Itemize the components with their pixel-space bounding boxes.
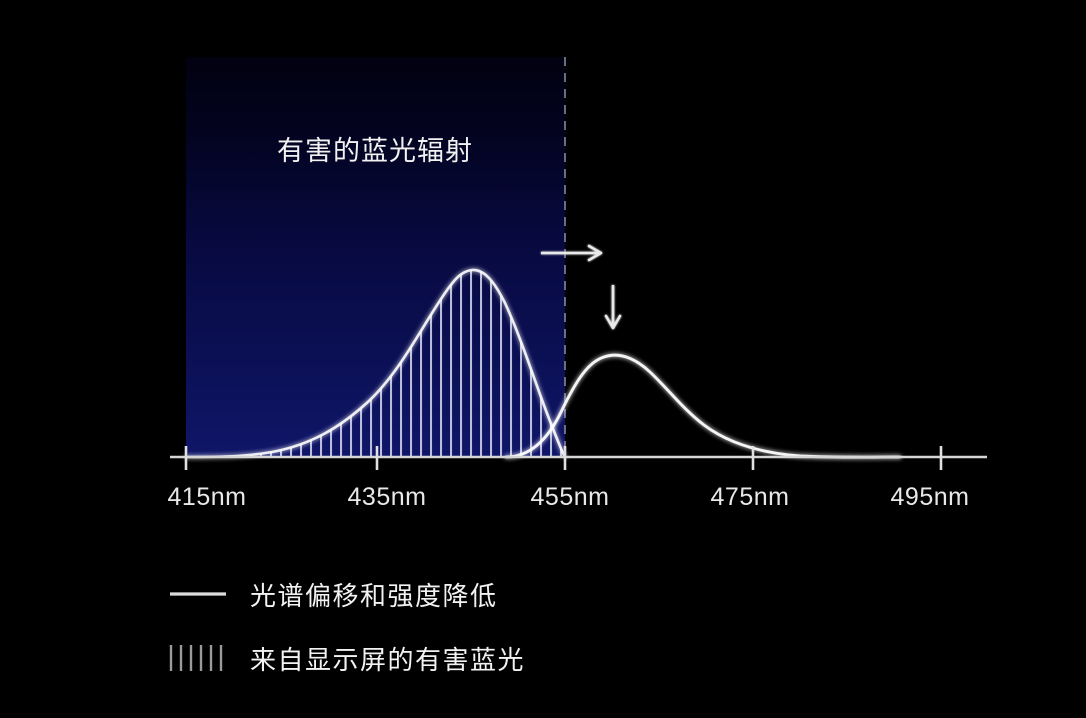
chart-legend: 光谱偏移和强度降低 来自显示屏的有害蓝光 (170, 581, 525, 675)
legend-label-spectral-shift: 光谱偏移和强度降低 (250, 581, 498, 611)
legend-item-harmful-blue-light: 来自显示屏的有害蓝光 (171, 645, 525, 675)
chart-canvas: 有害的蓝光辐射 415nm 4 (0, 0, 1086, 718)
legend-item-spectral-shift: 光谱偏移和强度降低 (170, 581, 498, 611)
tick-label-455nm: 455nm (531, 483, 610, 511)
hatch-lines-swatch (171, 645, 221, 671)
legend-label-harmful-blue-light: 来自显示屏的有害蓝光 (250, 645, 525, 675)
arrow-down-icon (606, 285, 620, 328)
x-axis-tick-labels: 415nm 435nm 455nm 475nm 495nm (168, 483, 970, 511)
tick-label-475nm: 475nm (711, 483, 790, 511)
blue-light-spectrum-chart: 有害的蓝光辐射 415nm 4 (0, 0, 1086, 718)
harmful-region-label: 有害的蓝光辐射 (277, 136, 473, 166)
tick-label-435nm: 435nm (348, 483, 427, 511)
tick-label-415nm: 415nm (168, 483, 247, 511)
tick-label-495nm: 495nm (891, 483, 970, 511)
